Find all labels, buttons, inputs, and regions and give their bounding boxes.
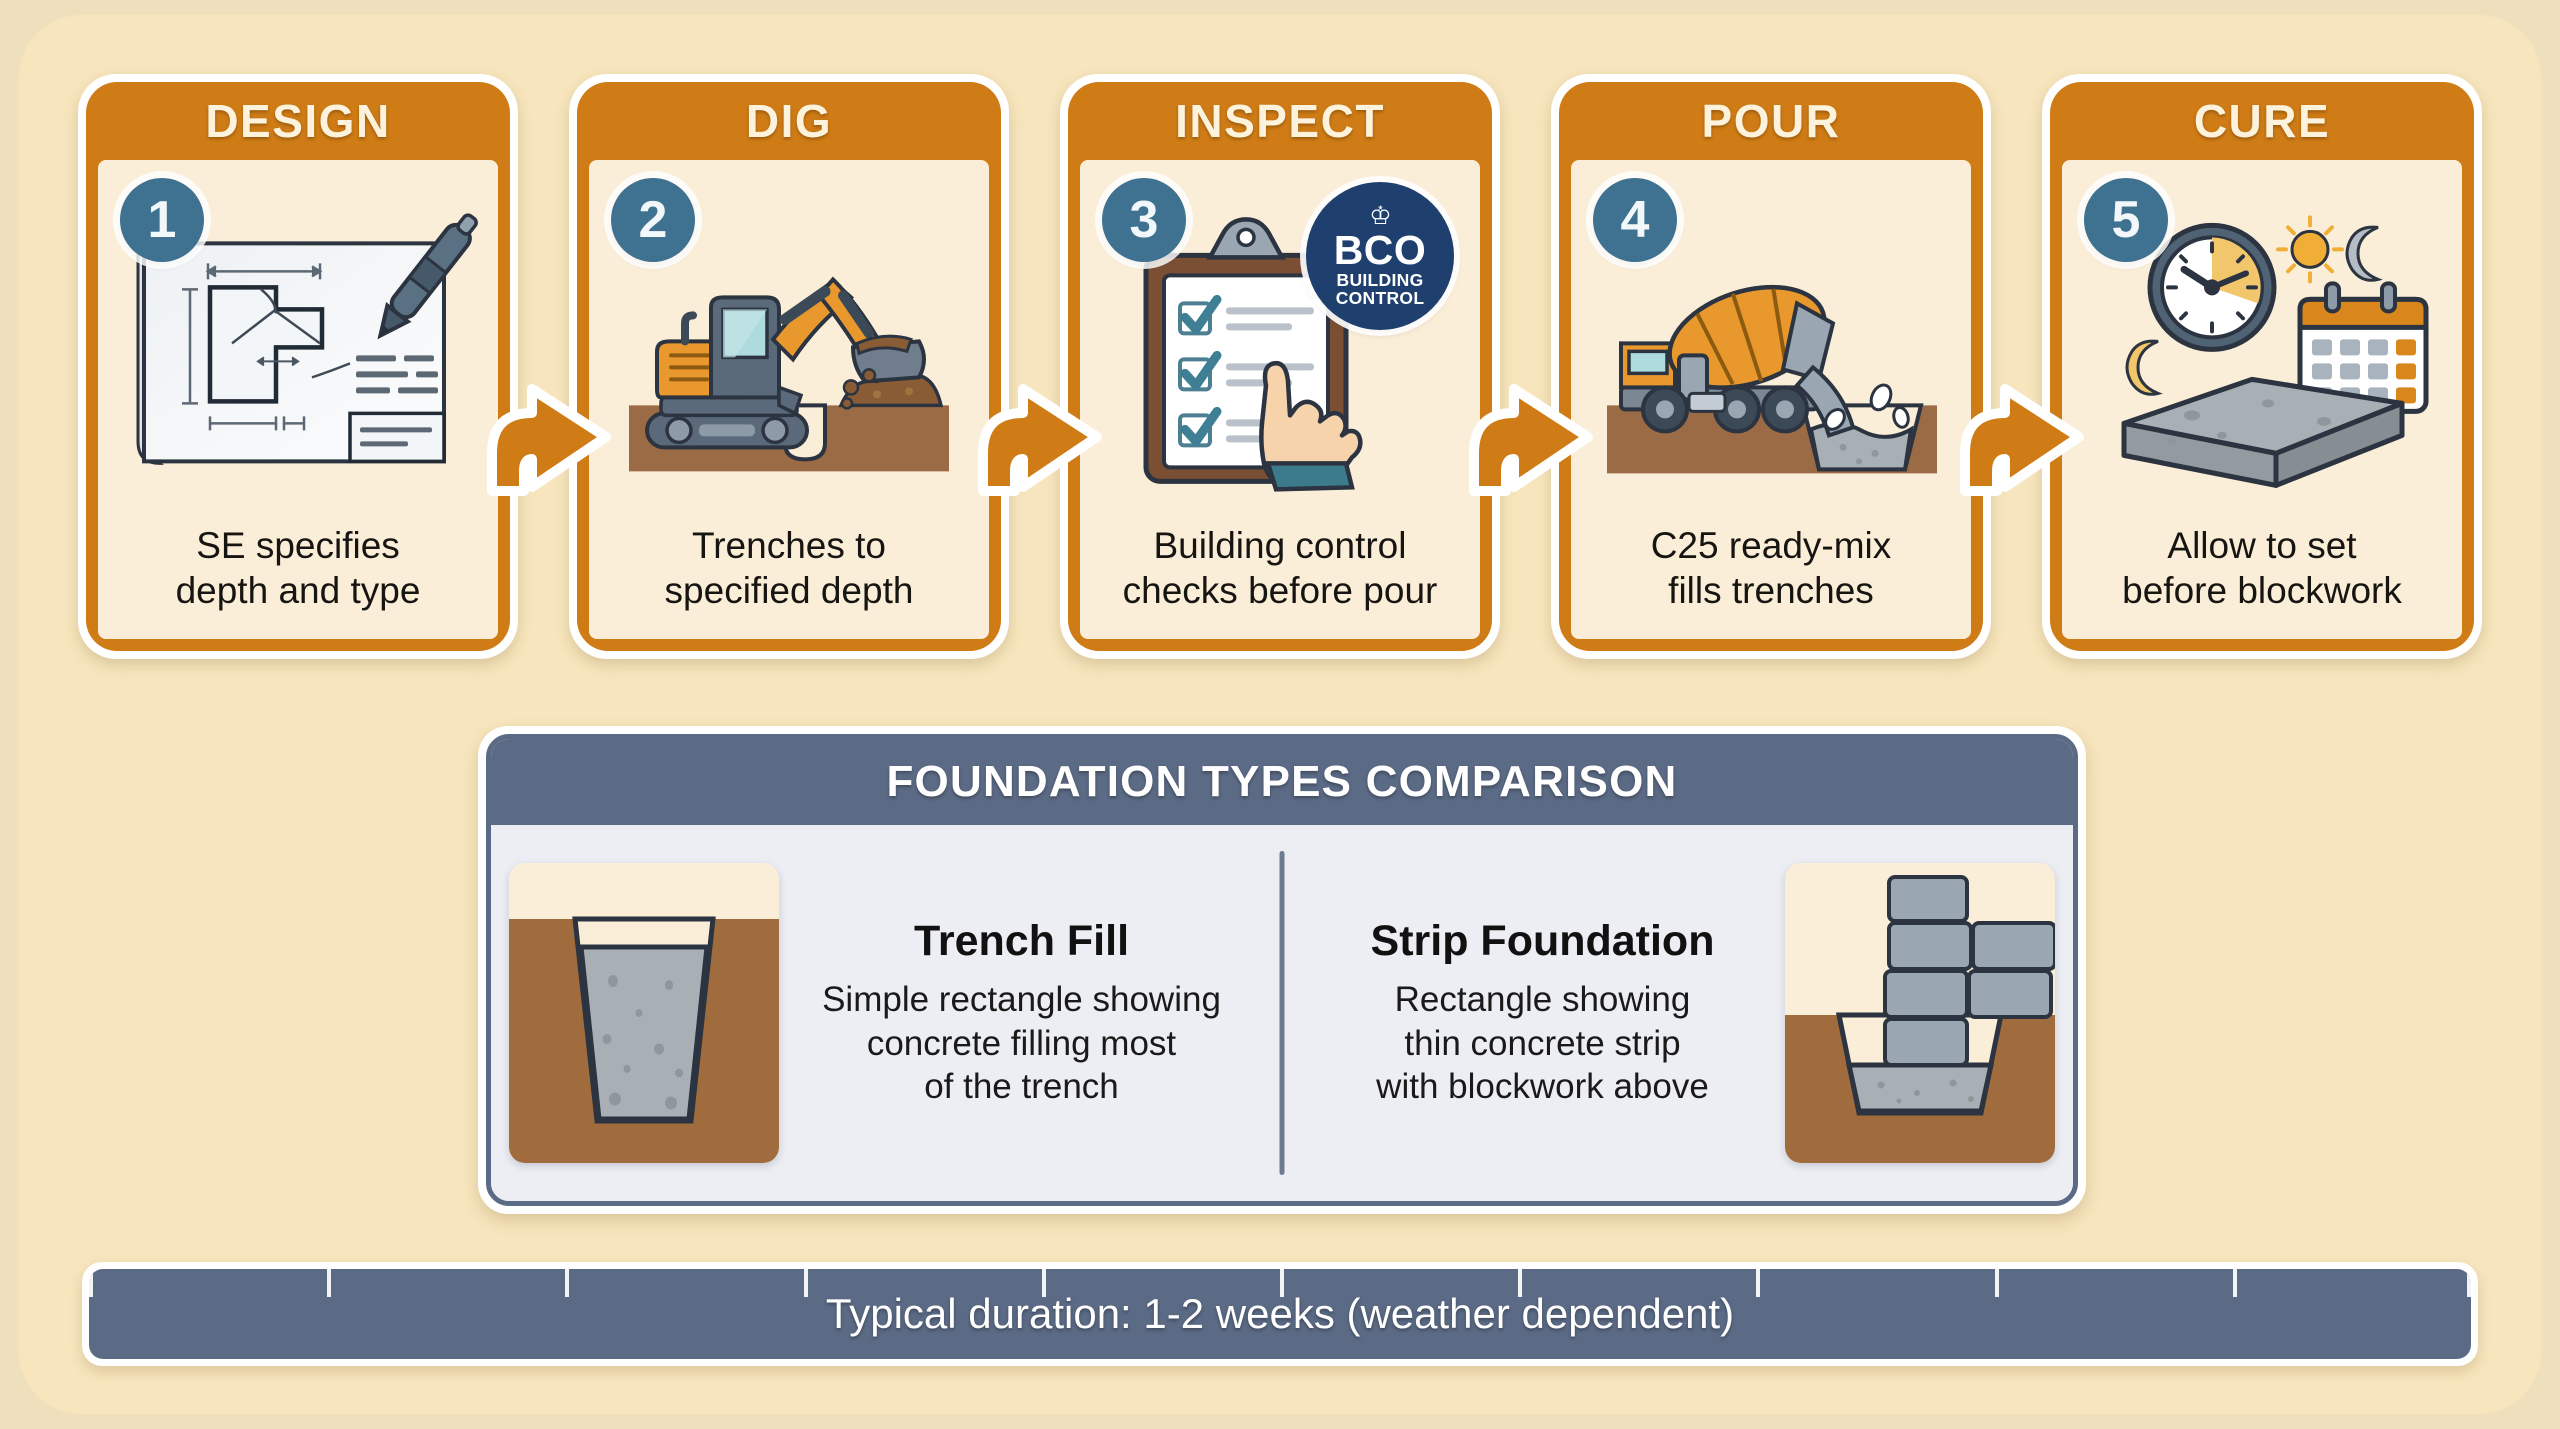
trench-fill-title: Trench Fill xyxy=(795,917,1248,966)
caption-line-2: fills trenches xyxy=(1668,570,1874,611)
duration-tick xyxy=(1756,1269,1760,1297)
bco-acronym: BCO xyxy=(1334,230,1427,270)
desc-line-3: of the trench xyxy=(924,1067,1119,1106)
step-body-cure: 5 xyxy=(2062,160,2462,639)
desc-line-1: Rectangle showing xyxy=(1395,980,1691,1019)
arrow-inspect-to-pour xyxy=(1466,379,1596,497)
arrow-design-to-dig xyxy=(484,379,614,497)
process-steps-row: DESIGN 1 xyxy=(78,74,2482,674)
caption-line-1: Allow to set xyxy=(2167,525,2356,566)
caption-line-2: depth and type xyxy=(176,570,421,611)
step-caption-dig: Trenches to specified depth xyxy=(589,523,989,639)
step-title-design: DESIGN xyxy=(86,82,510,160)
step-card-inner: INSPECT 3 ♔ BCO BUILDING CONTROL xyxy=(1068,82,1492,651)
step-card-inner: CURE 5 xyxy=(2050,82,2474,651)
step-card-inner: DIG 2 xyxy=(577,82,1001,651)
step-caption-inspect: Building control checks before pour xyxy=(1080,523,1480,639)
strip-foundation-title: Strip Foundation xyxy=(1316,917,1769,966)
caption-line-2: before blockwork xyxy=(2122,570,2402,611)
step-card-inner: POUR 4 xyxy=(1559,82,1983,651)
step-card-pour[interactable]: POUR 4 xyxy=(1551,74,1991,659)
duration-bar: Typical duration: 1-2 weeks (weather dep… xyxy=(89,1269,2471,1359)
step-card-dig[interactable]: DIG 2 xyxy=(569,74,1009,659)
step-body-dig: 2 xyxy=(589,160,989,639)
desc-line-2: thin concrete strip xyxy=(1404,1024,1680,1063)
step-number-badge-1: 1 xyxy=(120,178,204,262)
trench-fill-description: Simple rectangle showing concrete fillin… xyxy=(795,978,1248,1109)
step-card-inner: DESIGN 1 xyxy=(86,82,510,651)
comparison-body: Trench Fill Simple rectangle showing con… xyxy=(491,825,2073,1201)
duration-tick xyxy=(2467,1269,2471,1297)
step-body-design: 1 xyxy=(98,160,498,639)
duration-bar-panel: Typical duration: 1-2 weeks (weather dep… xyxy=(82,1262,2478,1366)
foundation-comparison-panel: FOUNDATION TYPES COMPARISON xyxy=(478,726,2086,1214)
step-title-dig: DIG xyxy=(577,82,1001,160)
desc-line-1: Simple rectangle showing xyxy=(822,980,1221,1019)
duration-tick xyxy=(565,1269,569,1297)
caption-line-2: specified depth xyxy=(665,570,914,611)
duration-tick xyxy=(1995,1269,1999,1297)
bco-word-control: CONTROL xyxy=(1336,289,1425,308)
step-card-cure[interactable]: CURE 5 xyxy=(2042,74,2482,659)
step-title-pour: POUR xyxy=(1559,82,1983,160)
step-caption-pour: C25 ready-mix fills trenches xyxy=(1571,523,1971,639)
caption-line-1: Building control xyxy=(1154,525,1407,566)
desc-line-3: with blockwork above xyxy=(1376,1067,1709,1106)
step-card-design[interactable]: DESIGN 1 xyxy=(78,74,518,659)
duration-tick xyxy=(89,1269,93,1297)
step-number-badge-5: 5 xyxy=(2084,178,2168,262)
crown-icon: ♔ xyxy=(1369,204,1390,229)
trench-fill-text: Trench Fill Simple rectangle showing con… xyxy=(779,917,1264,1109)
duration-tick xyxy=(327,1269,331,1297)
bco-word-building: BUILDING xyxy=(1337,271,1424,290)
caption-line-2: checks before pour xyxy=(1123,570,1438,611)
step-title-inspect: INSPECT xyxy=(1068,82,1492,160)
step-body-pour: 4 xyxy=(1571,160,1971,639)
comparison-right-strip-foundation: Strip Foundation Rectangle showing thin … xyxy=(1282,825,2073,1201)
comparison-divider xyxy=(1280,851,1285,1175)
caption-line-1: Trenches to xyxy=(692,525,886,566)
step-number-badge-3: 3 xyxy=(1102,178,1186,262)
desc-line-2: concrete filling most xyxy=(867,1024,1176,1063)
strip-foundation-text: Strip Foundation Rectangle showing thin … xyxy=(1300,917,1785,1109)
strip-foundation-description: Rectangle showing thin concrete strip wi… xyxy=(1316,978,1769,1109)
step-number-badge-4: 4 xyxy=(1593,178,1677,262)
caption-line-1: SE specifies xyxy=(196,525,400,566)
arrow-dig-to-inspect xyxy=(975,379,1105,497)
comparison-header-title: FOUNDATION TYPES COMPARISON xyxy=(491,739,2073,825)
comparison-left-trench-fill: Trench Fill Simple rectangle showing con… xyxy=(491,825,1282,1201)
arrow-pour-to-cure xyxy=(1957,379,2087,497)
comparison-inner: FOUNDATION TYPES COMPARISON xyxy=(486,734,2078,1206)
infographic-canvas: DESIGN 1 xyxy=(0,0,2560,1429)
step-caption-cure: Allow to set before blockwork xyxy=(2062,523,2462,639)
duration-text: Typical duration: 1-2 weeks (weather dep… xyxy=(826,1290,1734,1338)
duration-tick xyxy=(804,1269,808,1297)
bco-building-control-badge: ♔ BCO BUILDING CONTROL xyxy=(1306,182,1454,330)
duration-tick xyxy=(2233,1269,2237,1297)
step-number-badge-2: 2 xyxy=(611,178,695,262)
step-card-inspect[interactable]: INSPECT 3 ♔ BCO BUILDING CONTROL xyxy=(1060,74,1500,659)
step-caption-design: SE specifies depth and type xyxy=(98,523,498,639)
step-body-inspect: 3 ♔ BCO BUILDING CONTROL xyxy=(1080,160,1480,639)
caption-line-1: C25 ready-mix xyxy=(1651,525,1892,566)
strip-foundation-section-icon xyxy=(1785,863,2055,1163)
step-title-cure: CURE xyxy=(2050,82,2474,160)
trench-fill-section-icon xyxy=(509,863,779,1163)
